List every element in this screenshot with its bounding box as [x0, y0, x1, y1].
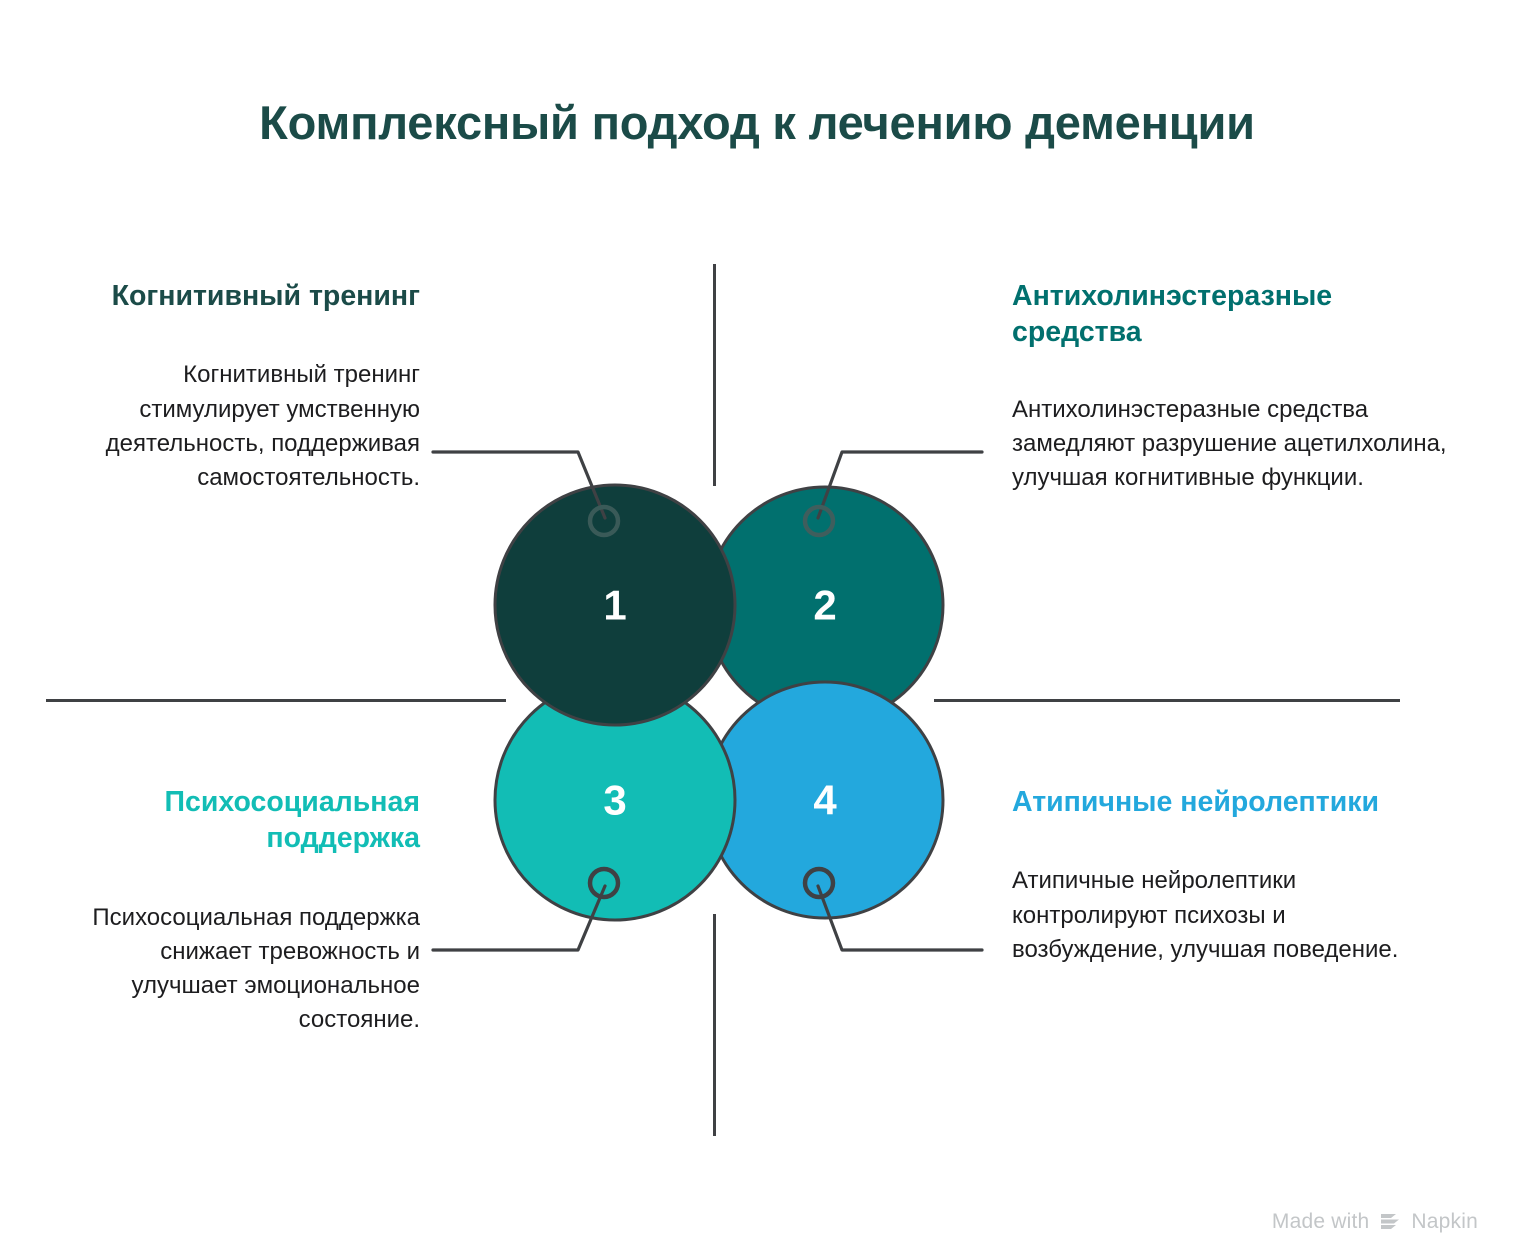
napkin-bars-icon [1378, 1211, 1402, 1233]
quadrant-1-body: Когнитивный тренинг стимулирует умственн… [80, 358, 420, 494]
quadrant-3-heading: Психосоциальная поддержка [60, 784, 420, 857]
quadrant-top-left: Когнитивный тренинг Когнитивный тренинг … [80, 278, 420, 495]
page-title: Комплексный подход к лечению деменции [0, 96, 1514, 150]
node-number-3: 3 [603, 777, 626, 824]
watermark: Made with Napkin [1272, 1210, 1478, 1234]
node-number-2: 2 [813, 582, 836, 629]
infographic-canvas: Комплексный подход к лечению деменции Ко… [0, 0, 1514, 1256]
quadrant-4-body: Атипичные нейролептики контролируют псих… [1012, 864, 1412, 966]
quadrant-bottom-right: Атипичные нейролептики Атипичные нейроле… [1012, 784, 1412, 967]
node-number-1: 1 [603, 582, 626, 629]
node-number-4: 4 [813, 777, 837, 824]
quadrant-bottom-left: Психосоциальная поддержка Психосоциальна… [60, 784, 420, 1037]
divider-horizontal-left [46, 699, 506, 702]
quadrant-4-heading: Атипичные нейролептики [1012, 784, 1412, 820]
watermark-text: Made with [1272, 1210, 1370, 1234]
watermark-brand: Napkin [1411, 1210, 1478, 1234]
quadrant-top-right: Антихолинэстеразные средства Антихолинэс… [1012, 278, 1452, 495]
quadrant-2-heading: Антихолинэстеразные средства [1012, 278, 1452, 351]
quadrant-2-body: Антихолинэстеразные средства замедляют р… [1012, 393, 1452, 495]
quadrant-1-heading: Когнитивный тренинг [80, 278, 420, 314]
quadrant-3-body: Психосоциальная поддержка снижает тревож… [60, 901, 420, 1037]
venn-diagram: 1 2 3 4 [455, 430, 955, 970]
divider-horizontal-right [934, 699, 1400, 702]
